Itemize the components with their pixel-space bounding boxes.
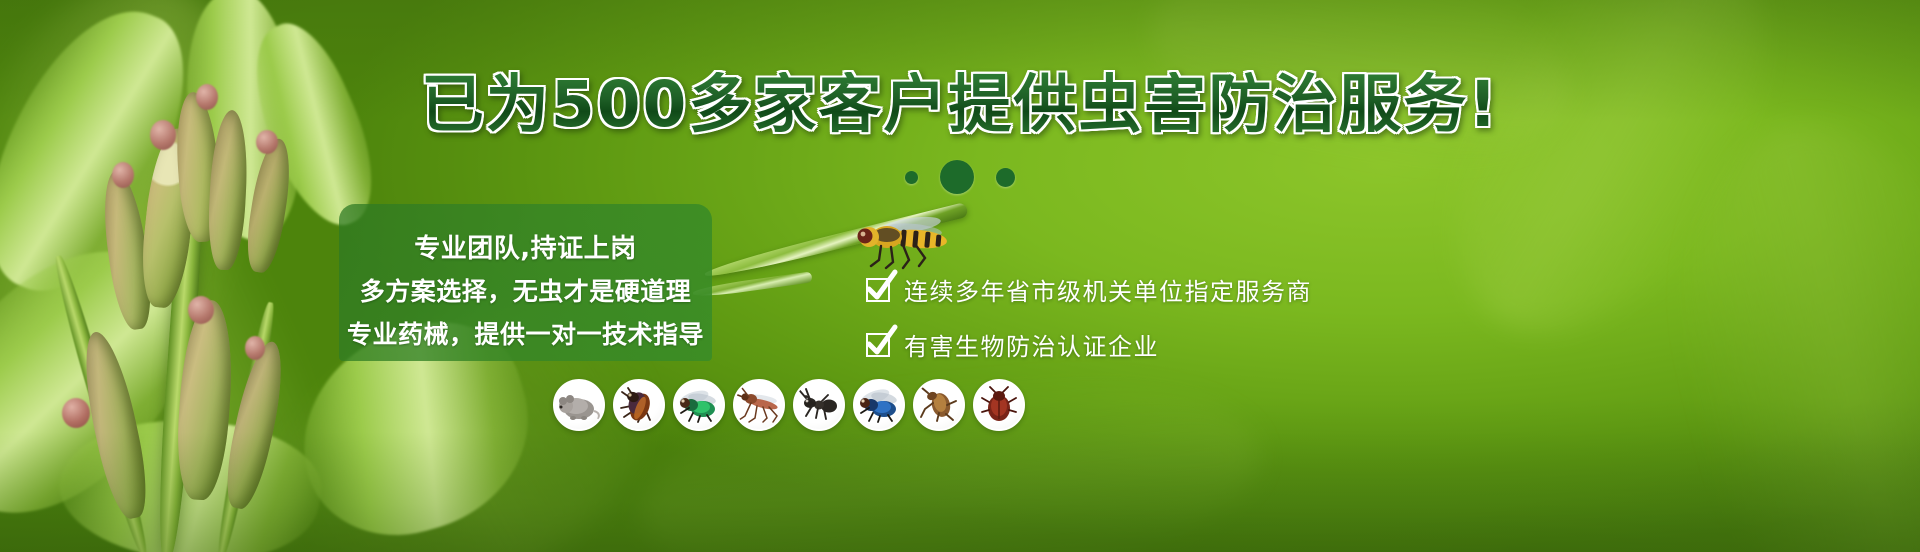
features-card: 专业团队,持证上岗 多方案选择，无虫才是硬道理 专业药械，提供一对一技术指导 [339, 204, 712, 361]
cockroach-icon[interactable] [613, 379, 665, 431]
card-line-3: 专业药械，提供一对一技术指导 [347, 315, 704, 351]
list-item: 连续多年省市级机关单位指定服务商 [866, 272, 1312, 307]
card-line-2: 多方案选择，无虫才是硬道理 [360, 272, 692, 308]
checkbox-checked-icon [866, 278, 890, 302]
hoverfly-icon [853, 212, 963, 274]
list-item-label: 有害生物防治认证企业 [904, 327, 1159, 362]
mouse-icon[interactable] [553, 379, 605, 431]
pest-icon-row [553, 379, 1025, 431]
headline: 已为500多家客户提供虫害防治服务! [0, 72, 1920, 138]
mosquito-icon[interactable] [733, 379, 785, 431]
list-item: 有害生物防治认证企业 [866, 327, 1312, 362]
bedbug-icon[interactable] [973, 379, 1025, 431]
bluebottle-fly-icon[interactable] [853, 379, 905, 431]
ant-icon[interactable] [793, 379, 845, 431]
card-line-1: 专业团队,持证上岗 [414, 228, 636, 265]
flea-icon[interactable] [913, 379, 965, 431]
credentials-list: 连续多年省市级机关单位指定服务商 有害生物防治认证企业 [866, 272, 1312, 362]
dot-medium-icon [996, 168, 1015, 187]
decorative-dots [0, 160, 1920, 194]
dot-large-icon [940, 160, 974, 194]
headline-text: 已为500多家客户提供虫害防治服务! [421, 72, 1499, 138]
pest-control-hero-banner: 已为500多家客户提供虫害防治服务! [0, 0, 1920, 552]
list-item-label: 连续多年省市级机关单位指定服务商 [904, 272, 1312, 307]
checkbox-checked-icon [866, 333, 890, 357]
dot-small-icon [905, 171, 918, 184]
bottom-shadow-band [0, 432, 1920, 552]
greenbottle-fly-icon[interactable] [673, 379, 725, 431]
